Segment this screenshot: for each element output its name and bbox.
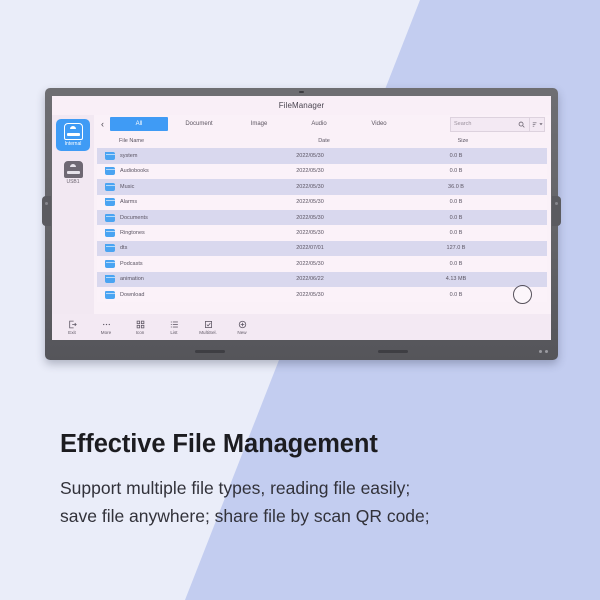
- file-name-cell: system: [97, 152, 255, 160]
- device-screen: FileManager Internal USB1: [52, 96, 551, 340]
- table-row[interactable]: dts 2022/07/01 127.0 B: [97, 241, 547, 256]
- file-size-cell: 127.0 B: [365, 245, 547, 251]
- tab-label: Image: [251, 121, 268, 127]
- app-body: Internal USB1 ‹ All: [52, 115, 551, 314]
- table-row[interactable]: Download 2022/05/30 0.0 B: [97, 287, 547, 302]
- file-name-cell: dts: [97, 244, 255, 252]
- icon-view-button[interactable]: Icon: [130, 319, 150, 335]
- file-name-label: Alarms: [120, 199, 137, 205]
- table-row[interactable]: Alarms 2022/05/30 0.0 B: [97, 195, 547, 210]
- tab-label: All: [136, 121, 143, 127]
- side-handle-dot: [555, 202, 558, 205]
- multiselect-icon: [203, 319, 213, 329]
- sort-dropdown-icon[interactable]: [530, 117, 545, 132]
- folder-icon: [105, 167, 115, 175]
- file-name-cell: Podcasts: [97, 260, 255, 268]
- file-date-cell: 2022/05/30: [255, 199, 365, 205]
- side-handle-dot: [45, 202, 48, 205]
- tab-label: Video: [371, 121, 386, 127]
- file-name-cell: Music: [97, 183, 255, 191]
- device-side-handle-left: [42, 196, 51, 226]
- list-view-icon: [169, 319, 179, 329]
- file-table: File Name Date Size system 2022/05/30 0.…: [94, 133, 551, 314]
- file-name-label: animation: [120, 276, 144, 282]
- table-row[interactable]: Audiobooks 2022/05/30 0.0 B: [97, 164, 547, 179]
- bottom-action-label: Icon: [136, 330, 145, 335]
- tab-image[interactable]: Image: [230, 117, 288, 131]
- filemanager-app: FileManager Internal USB1: [52, 96, 551, 340]
- usb-storage-icon: [64, 161, 83, 178]
- bottom-action-label: Exit: [68, 330, 76, 335]
- file-name-label: Download: [120, 292, 144, 298]
- file-size-cell: 4.13 MB: [365, 276, 547, 282]
- status-led-indicator: [539, 350, 542, 353]
- table-row[interactable]: system 2022/05/30 0.0 B: [97, 148, 547, 163]
- search-input[interactable]: [454, 121, 515, 127]
- file-name-label: Documents: [120, 215, 148, 221]
- description-line-2: save file anywhere; share file by scan Q…: [60, 502, 580, 530]
- device-chin: [45, 340, 558, 360]
- file-name-cell: Audiobooks: [97, 167, 255, 175]
- file-size-cell: 0.0 B: [365, 199, 547, 205]
- file-size-cell: 0.0 B: [365, 153, 547, 159]
- column-header-date: Date: [269, 138, 379, 144]
- chevron-left-icon[interactable]: ‹: [97, 117, 108, 131]
- exit-button[interactable]: Exit: [62, 319, 82, 335]
- file-size-cell: 0.0 B: [365, 230, 547, 236]
- search-icon[interactable]: [517, 118, 526, 131]
- sidebar-item-label: USB1: [66, 179, 79, 185]
- file-date-cell: 2022/07/01: [255, 245, 365, 251]
- app-bottom-toolbar: Exit More: [52, 314, 551, 340]
- table-row[interactable]: animation 2022/06/22 4.13 MB: [97, 272, 547, 287]
- internal-storage-icon: [64, 123, 83, 140]
- more-button[interactable]: More: [96, 319, 116, 335]
- file-name-cell: animation: [97, 275, 255, 283]
- multiselect-button[interactable]: MultiSel.: [198, 319, 218, 335]
- search-area: [450, 118, 545, 131]
- tab-video[interactable]: Video: [350, 117, 408, 131]
- file-date-cell: 2022/05/30: [255, 230, 365, 236]
- folder-icon: [105, 291, 115, 299]
- file-name-label: dts: [120, 245, 127, 251]
- tab-document[interactable]: Document: [170, 117, 228, 131]
- folder-icon: [105, 214, 115, 222]
- file-date-cell: 2022/05/30: [255, 168, 365, 174]
- column-header-size: Size: [379, 138, 547, 144]
- table-row[interactable]: Podcasts 2022/05/30 0.0 B: [97, 256, 547, 271]
- marketing-copy: Effective File Management Support multip…: [60, 430, 580, 531]
- bottom-action-label: New: [237, 330, 246, 335]
- file-name-cell: Ringtones: [97, 229, 255, 237]
- column-header-file-name: File Name: [97, 138, 269, 144]
- file-name-label: system: [120, 153, 137, 159]
- folder-icon: [105, 275, 115, 283]
- camera-icon: [299, 91, 304, 93]
- sidebar-item-internal[interactable]: Internal: [56, 119, 90, 151]
- new-plus-icon: [237, 319, 247, 329]
- bottom-action-label: List: [170, 330, 177, 335]
- file-name-label: Audiobooks: [120, 168, 149, 174]
- file-name-label: Ringtones: [120, 230, 145, 236]
- tab-all[interactable]: All: [110, 117, 168, 131]
- folder-icon: [105, 244, 115, 252]
- description-line-1: Support multiple file types, reading fil…: [60, 474, 580, 502]
- sidebar-item-usb1[interactable]: USB1: [56, 157, 90, 189]
- file-table-header: File Name Date Size: [97, 133, 547, 148]
- interactive-flat-panel-display: FileManager Internal USB1: [45, 88, 558, 360]
- table-row[interactable]: Documents 2022/05/30 0.0 B: [97, 210, 547, 225]
- storage-sidebar: Internal USB1: [52, 115, 94, 314]
- bottom-action-label: More: [101, 330, 111, 335]
- circle-handwriting-icon[interactable]: [513, 285, 532, 304]
- file-name-label: Podcasts: [120, 261, 143, 267]
- bottom-action-label: MultiSel.: [199, 330, 217, 335]
- app-titlebar: FileManager: [52, 96, 551, 115]
- file-date-cell: 2022/05/30: [255, 292, 365, 298]
- file-name-label: Music: [120, 184, 134, 190]
- file-date-cell: 2022/05/30: [255, 215, 365, 221]
- app-title: FileManager: [279, 101, 325, 110]
- file-name-cell: Alarms: [97, 198, 255, 206]
- file-size-cell: 0.0 B: [365, 261, 547, 267]
- main-panel: ‹ All Document Image Audio: [94, 115, 551, 314]
- file-size-cell: 36.0 B: [365, 184, 547, 190]
- table-row[interactable]: Ringtones 2022/05/30 0.0 B: [97, 225, 547, 240]
- device-side-handle-right: [552, 196, 561, 226]
- tab-label: Document: [185, 121, 212, 127]
- folder-icon: [105, 229, 115, 237]
- folder-icon: [105, 260, 115, 268]
- file-size-cell: 0.0 B: [365, 168, 547, 174]
- power-led-indicator: [545, 350, 548, 353]
- filter-toolbar: ‹ All Document Image Audio: [94, 115, 551, 133]
- sidebar-item-label: Internal: [65, 141, 82, 147]
- speaker-grille-right: [378, 350, 408, 353]
- tab-label: Audio: [311, 121, 326, 127]
- search-box[interactable]: [450, 117, 530, 132]
- file-name-cell: Download: [97, 291, 255, 299]
- page-title: Effective File Management: [60, 430, 580, 458]
- speaker-grille-left: [195, 350, 225, 353]
- file-date-cell: 2022/06/22: [255, 276, 365, 282]
- file-date-cell: 2022/05/30: [255, 184, 365, 190]
- folder-icon: [105, 183, 115, 191]
- file-date-cell: 2022/05/30: [255, 261, 365, 267]
- tab-audio[interactable]: Audio: [290, 117, 348, 131]
- file-name-cell: Documents: [97, 214, 255, 222]
- list-view-button[interactable]: List: [164, 319, 184, 335]
- more-icon: [101, 319, 111, 329]
- grid-view-icon: [135, 319, 145, 329]
- file-size-cell: 0.0 B: [365, 215, 547, 221]
- exit-icon: [67, 319, 77, 329]
- file-date-cell: 2022/05/30: [255, 153, 365, 159]
- folder-icon: [105, 198, 115, 206]
- folder-icon: [105, 152, 115, 160]
- new-button[interactable]: New: [232, 319, 252, 335]
- table-row[interactable]: Music 2022/05/30 36.0 B: [97, 179, 547, 194]
